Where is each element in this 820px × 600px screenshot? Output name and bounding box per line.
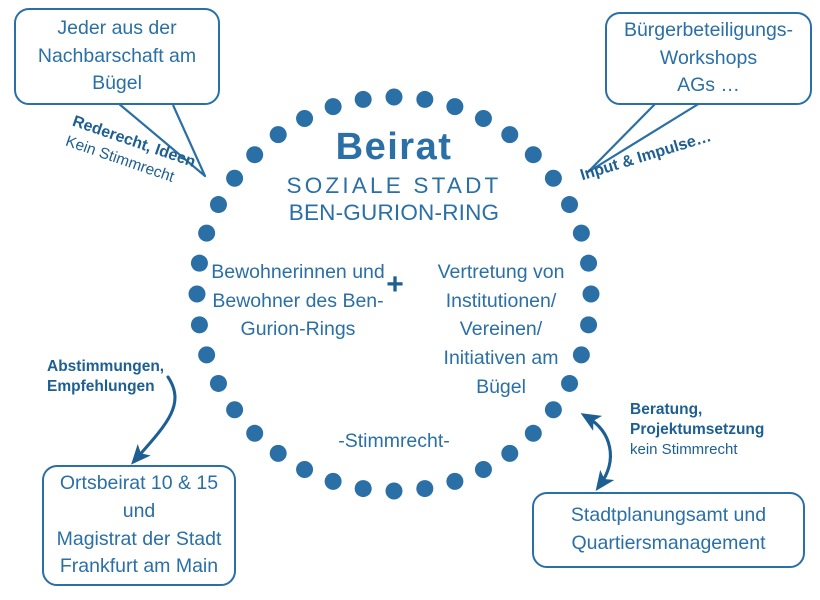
box-line: Nachbarschaft am (38, 43, 196, 71)
ring-dot (270, 126, 287, 143)
plus-icon: + (380, 270, 410, 300)
ring-dot (325, 473, 342, 490)
relation-label-abstimmungen: Abstimmungen, Empfehlungen (47, 357, 164, 397)
ring-dot (446, 473, 463, 490)
box-line: Jeder aus der (57, 15, 176, 43)
ring-dot (416, 91, 433, 108)
member-line: von (533, 261, 564, 283)
ring-dot (226, 401, 243, 418)
ring-dot (296, 110, 313, 127)
page-title: Beirat (194, 126, 594, 169)
box-line: Frankfurt am Main (60, 553, 218, 581)
subtitle-ben-gurion-ring: BEN-GURION-RING (194, 200, 594, 226)
member-line: Vertretung (438, 261, 528, 283)
relation-label-line: Empfehlungen (47, 377, 164, 397)
members-left-column: Bewohnerinnen und Bewohner des Ben-Gurio… (208, 258, 388, 344)
relation-label-line: Beratung, (630, 400, 764, 420)
box-line: Workshops (660, 45, 757, 73)
ring-dot (580, 316, 597, 333)
relation-label-line: kein Stimmrecht (630, 440, 764, 460)
arrow-beratung (587, 417, 610, 485)
box-district-council[interactable]: Ortsbeirat 10 & 15 und Magistrat der Sta… (42, 465, 236, 586)
ring-dot (325, 98, 342, 115)
ring-dot (545, 170, 562, 187)
ring-dot (573, 346, 590, 363)
ring-dot (386, 483, 403, 500)
voting-rights-note: -Stimmrecht- (194, 430, 594, 453)
ring-dot (198, 346, 215, 363)
callout-box-neighbourhood[interactable]: Jeder aus der Nachbarschaft am Bügel (14, 8, 220, 105)
relation-label-line: Projektumsetzung (630, 420, 764, 440)
ring-dot (198, 225, 215, 242)
diagram-canvas: Beirat SOZIALE STADT BEN-GURION-RING Bew… (0, 0, 820, 600)
relation-label-beratung: Beratung, Projektumsetzung kein Stimmrec… (630, 400, 764, 460)
box-line: Stadtplanungsamt und (571, 502, 766, 530)
box-line: Bügel (92, 70, 142, 98)
subtitle-soziale-stadt: SOZIALE STADT (194, 173, 594, 199)
relation-label-input: Input & Impulse… (578, 127, 714, 187)
ring-dot (475, 461, 492, 478)
member-line: Bewohnerinnen (211, 261, 347, 283)
callout-box-participation[interactable]: Bürgerbeteiligungs- Workshops AGs … (605, 12, 812, 105)
member-line: Vereinen/ (460, 318, 542, 340)
box-line: Bürgerbeteiligungs- (624, 17, 793, 45)
ring-dot (475, 110, 492, 127)
ring-dot (355, 91, 372, 108)
ring-dot (583, 286, 600, 303)
ring-dot (561, 375, 578, 392)
box-city-planning[interactable]: Stadtplanungsamt und Quartiersmanagement (532, 492, 805, 568)
ring-dot (355, 480, 372, 497)
member-line: am Bügel (476, 347, 558, 398)
ring-dot (573, 225, 590, 242)
box-line: Ortsbeirat 10 & 15 (60, 470, 218, 498)
ring-dot (189, 286, 206, 303)
dotted-ring (189, 89, 600, 500)
ring-dot (561, 196, 578, 213)
member-line: und Bewohner (212, 261, 384, 312)
member-line: Ben-Gurion-Rings (241, 290, 384, 341)
ring-dot (246, 146, 263, 163)
ring-dot (525, 425, 542, 442)
ring-dot (446, 98, 463, 115)
ring-dot (501, 445, 518, 462)
box-line: Magistrat der Stadt (57, 526, 222, 554)
ring-dot (270, 445, 287, 462)
member-line: Initiativen (444, 347, 526, 369)
relation-label-line: Input & Impulse… (578, 128, 713, 184)
ring-dot (246, 425, 263, 442)
member-line: des (306, 290, 337, 312)
ring-dot (501, 126, 518, 143)
box-line: Quartiersmanagement (571, 530, 765, 558)
ring-center-content: Beirat SOZIALE STADT BEN-GURION-RING Bew… (194, 100, 594, 490)
ring-dot (416, 480, 433, 497)
box-line: AGs … (677, 72, 740, 100)
box-line: und (123, 498, 156, 526)
ring-dot (210, 196, 227, 213)
members-right-column: Vertretung von Institutionen/ Vereinen/ … (416, 258, 586, 401)
ring-dot (386, 89, 403, 106)
ring-dot (226, 170, 243, 187)
ring-dot (210, 375, 227, 392)
ring-dot (525, 146, 542, 163)
ring-dot (545, 401, 562, 418)
relation-label-line: Abstimmungen, (47, 357, 164, 377)
ring-dot (296, 461, 313, 478)
ring-dot (191, 255, 208, 272)
ring-dot (191, 316, 208, 333)
relation-label-rederecht: Rederecht, Ideen Kein Stimmrecht (63, 112, 198, 193)
ring-dot (580, 255, 597, 272)
member-line: Institutionen/ (446, 290, 557, 312)
